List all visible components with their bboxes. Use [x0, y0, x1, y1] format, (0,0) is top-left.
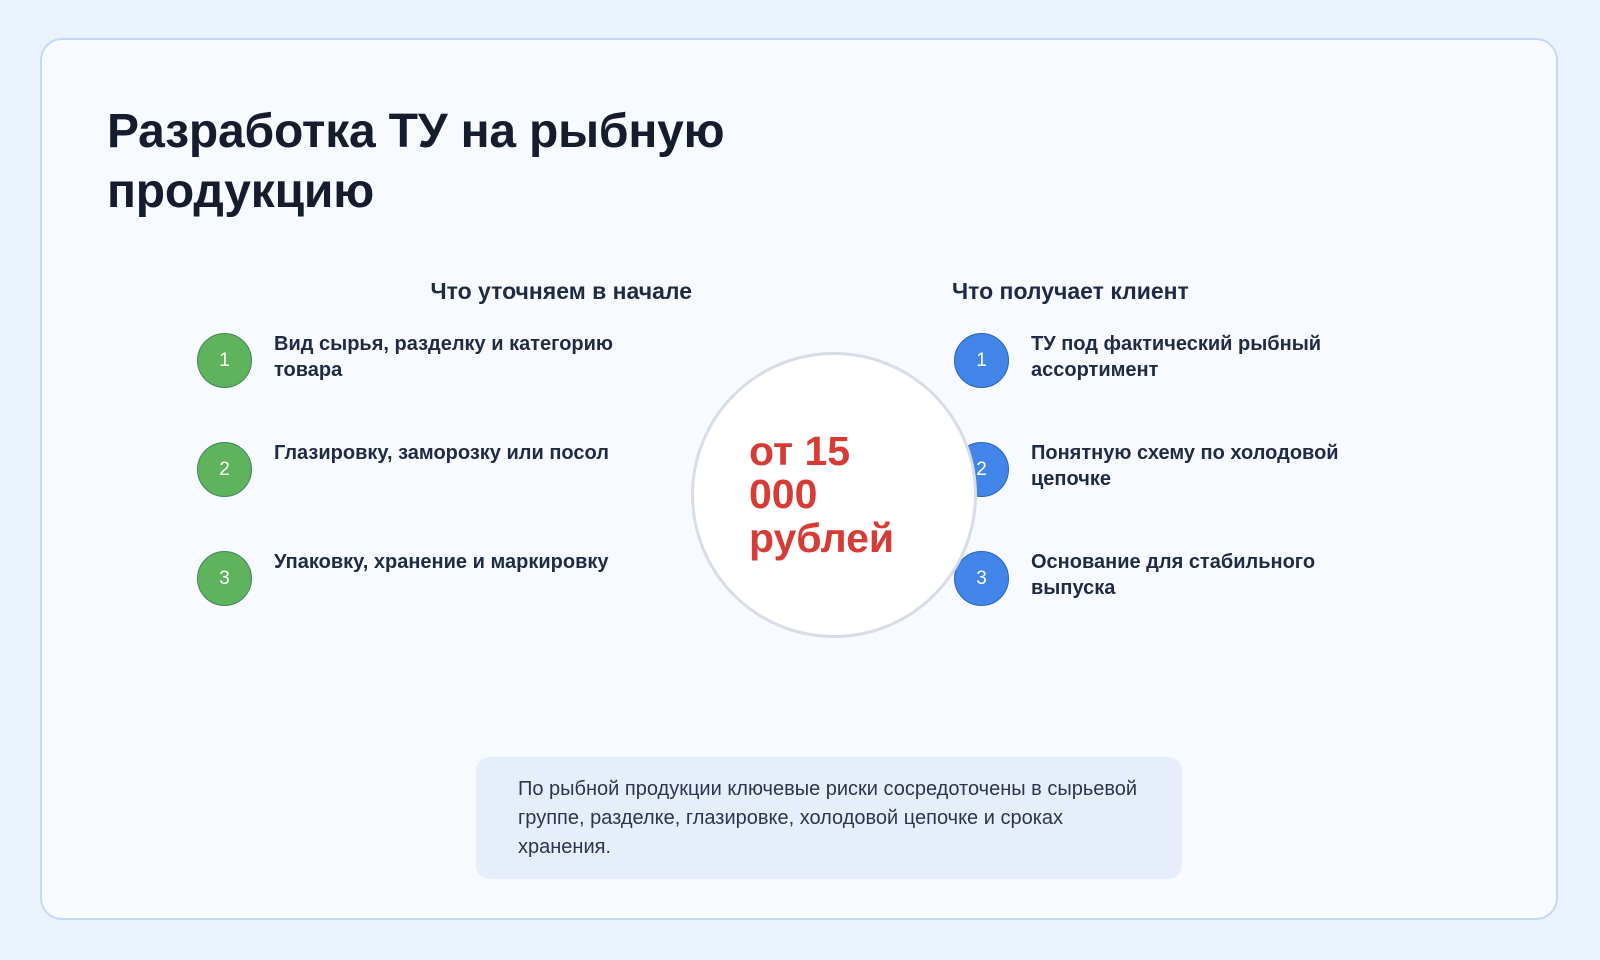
- left-column: Что уточняем в начале 1 Вид сырья, разде…: [152, 278, 712, 658]
- price-value: от 15 000 рублей: [749, 430, 919, 560]
- list-item-label: Глазировку, заморозку или посол: [274, 440, 609, 466]
- right-column-heading: Что получает клиент: [912, 278, 1412, 305]
- list-item-label: Понятную схему по холодовой цепочке: [1031, 440, 1401, 492]
- step-badge-left-2: 2: [197, 442, 252, 497]
- step-badge-right-1: 1: [954, 333, 1009, 388]
- list-item-label: ТУ под фактический рыбный ассортимент: [1031, 331, 1401, 383]
- list-item: 1 ТУ под фактический рыбный ассортимент: [912, 331, 1412, 388]
- note-box: По рыбной продукции ключевые риски сосре…: [476, 757, 1182, 879]
- list-item: 2 Понятную схему по холодовой цепочке: [912, 440, 1412, 497]
- list-item: 3 Основание для стабильного выпуска: [912, 549, 1412, 606]
- price-circle: от 15 000 рублей: [691, 352, 977, 638]
- list-item-label: Основание для стабильного выпуска: [1031, 549, 1401, 601]
- left-column-heading: Что уточняем в начале: [152, 278, 712, 305]
- step-badge-left-1: 1: [197, 333, 252, 388]
- step-badge-left-3: 3: [197, 551, 252, 606]
- infographic-slide: Разработка ТУ на рыбную продукцию Что ут…: [0, 0, 1600, 960]
- page-title: Разработка ТУ на рыбную продукцию: [107, 102, 807, 223]
- right-column: Что получает клиент 1 ТУ под фактический…: [912, 278, 1412, 658]
- note-text: По рыбной продукции ключевые риски сосре…: [476, 775, 1182, 862]
- list-item: 1 Вид сырья, разделку и категорию товара: [152, 331, 712, 388]
- step-badge-right-3: 3: [954, 551, 1009, 606]
- list-item-label: Упаковку, хранение и маркировку: [274, 549, 609, 575]
- list-item: 3 Упаковку, хранение и маркировку: [152, 549, 712, 606]
- content-card: Разработка ТУ на рыбную продукцию Что ут…: [40, 38, 1558, 920]
- list-item: 2 Глазировку, заморозку или посол: [152, 440, 712, 497]
- list-item-label: Вид сырья, разделку и категорию товара: [274, 331, 644, 383]
